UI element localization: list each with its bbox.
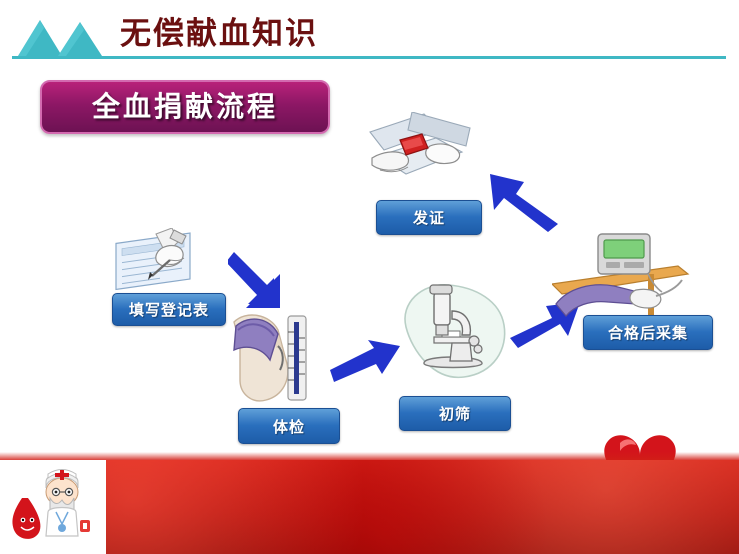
- twin-mountains-icon: [14, 16, 110, 56]
- registration-form-icon: [112, 228, 218, 298]
- step-label-certificate[interactable]: 发证: [376, 200, 482, 235]
- step-label-registration[interactable]: 填写登记表: [112, 293, 226, 326]
- step-label-collection[interactable]: 合格后采集: [583, 315, 713, 350]
- section-banner: 全血捐献流程: [40, 80, 330, 134]
- header-divider: [12, 56, 726, 59]
- bottom-band-fade: [0, 452, 739, 460]
- blood-pressure-cuff-icon: [226, 300, 338, 410]
- doctor-mascot-icon: [4, 462, 100, 550]
- page-title: 无偿献血知识: [120, 8, 318, 53]
- step-label-physical-exam[interactable]: 体检: [238, 408, 340, 444]
- bottom-band: [0, 460, 739, 554]
- section-banner-label: 全血捐献流程: [42, 82, 328, 132]
- step-label-screening[interactable]: 初筛: [399, 396, 511, 431]
- blood-collection-machine-icon: [552, 228, 692, 328]
- donation-certificate-icon: [366, 112, 476, 204]
- slide: 无偿献血知识 全血捐献流程: [0, 0, 739, 554]
- microscope-icon: [390, 275, 518, 395]
